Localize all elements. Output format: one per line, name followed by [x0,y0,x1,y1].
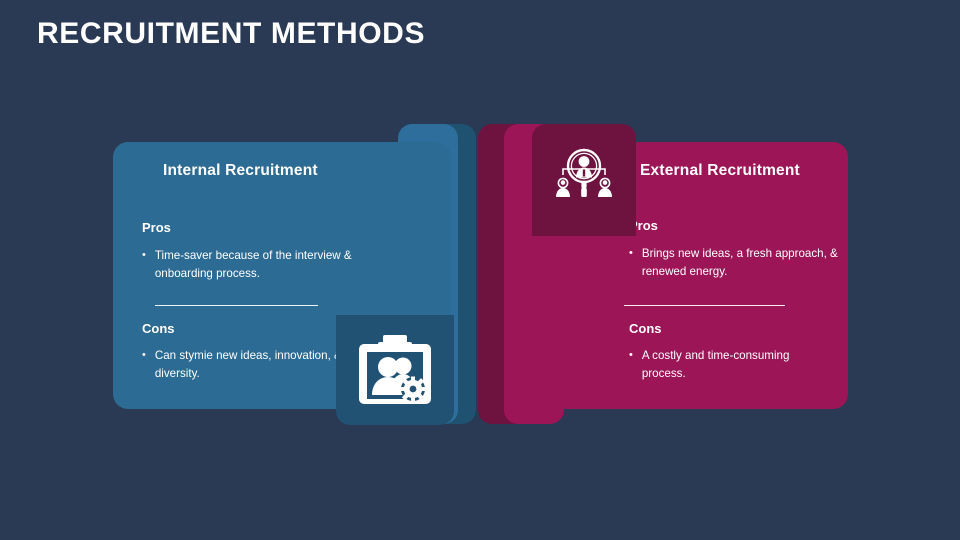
magnifier-talent-search-icon [552,146,616,208]
external-icon-plate [532,124,636,236]
panel-internal-divider [155,305,318,306]
bullet-text: Time-saver because of the interview & on… [155,247,387,282]
panel-internal-pros-bullet: • Time-saver because of the interview & … [142,247,387,282]
bullet-glyph: • [629,347,633,365]
bullet-text: A costly and time-consuming process. [642,347,829,382]
panel-internal-cons-label: Cons [142,321,175,336]
bullet-glyph: • [629,245,633,263]
panel-internal-title: Internal Recruitment [163,162,318,180]
clipboard-people-gear-icon [358,335,432,405]
bullet-glyph: • [142,247,146,265]
panel-external-cons-bullet: • A costly and time-consuming process. [629,347,829,382]
panel-internal-pros-label: Pros [142,220,171,235]
panel-external-cons-label: Cons [629,321,662,336]
bullet-glyph: • [142,347,146,365]
panel-external-title: External Recruitment [640,162,800,180]
panel-external-divider [624,305,785,306]
panel-external-pros-bullet: • Brings new ideas, a fresh approach, & … [629,245,854,280]
internal-icon-plate [336,315,454,425]
bullet-text: Brings new ideas, a fresh approach, & re… [642,245,854,280]
page-title: RECRUITMENT METHODS [37,17,425,51]
slide-canvas: RECRUITMENT METHODS Internal Recruitment… [0,0,960,540]
